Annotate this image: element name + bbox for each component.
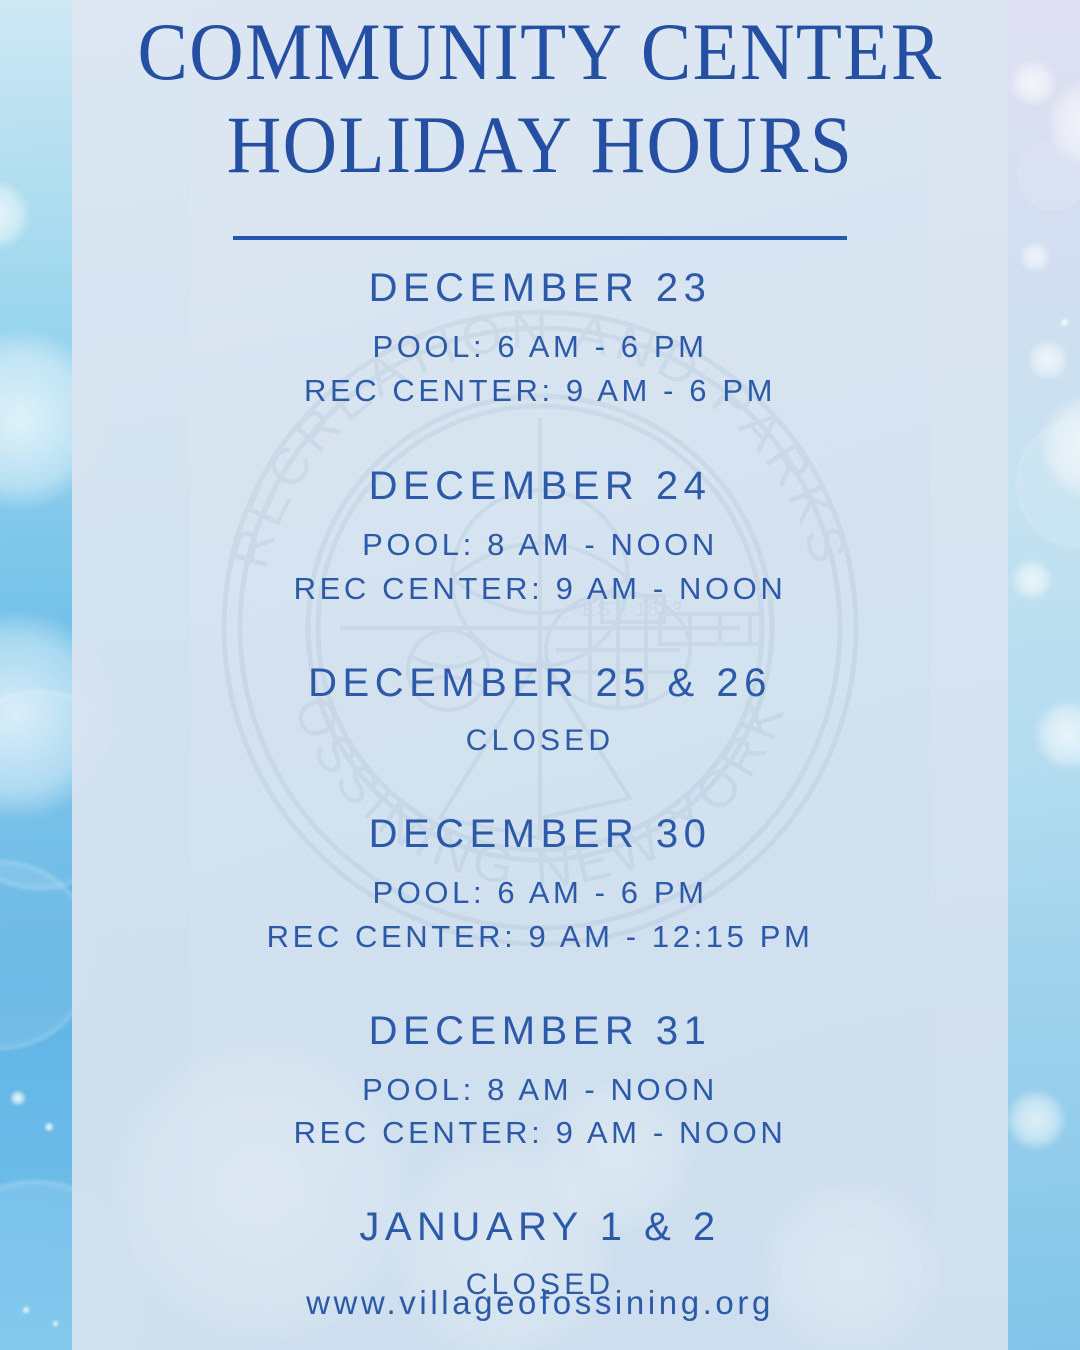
- title-line-1: COMMUNITY CENTER: [43, 6, 1037, 99]
- schedule-entry-line: POOL: 8 AM - NOON: [0, 1068, 1080, 1112]
- schedule-entry-date: DECEMBER 30: [0, 814, 1080, 854]
- schedule-entry-line: POOL: 6 AM - 6 PM: [0, 871, 1080, 915]
- schedule-entry-hours: POOL: 6 AM - 6 PM REC CENTER: 9 AM - 12:…: [0, 871, 1080, 958]
- spacer: [0, 762, 1080, 814]
- schedule-entry-line: REC CENTER: 9 AM - 6 PM: [0, 369, 1080, 413]
- schedule-entry-hours: POOL: 8 AM - NOON REC CENTER: 9 AM - NOO…: [0, 523, 1080, 610]
- schedule-entry-line: POOL: 8 AM - NOON: [0, 523, 1080, 567]
- poster-content: COMMUNITY CENTER HOLIDAY HOURS DECEMBER …: [0, 0, 1080, 1350]
- spacer: [0, 611, 1080, 663]
- schedule-entry: DECEMBER 24 POOL: 8 AM - NOON REC CENTER…: [0, 466, 1080, 610]
- schedule-entry-date: DECEMBER 31: [0, 1011, 1080, 1051]
- schedule-entry-hours: POOL: 6 AM - 6 PM REC CENTER: 9 AM - 6 P…: [0, 325, 1080, 412]
- title-line-2: HOLIDAY HOURS: [43, 99, 1037, 192]
- holiday-hours-poster: RECREATION AND PARKS OSSINING NEW YORK: [0, 0, 1080, 1350]
- title-divider: [233, 236, 847, 240]
- schedule-entry: DECEMBER 31 POOL: 8 AM - NOON REC CENTER…: [0, 1011, 1080, 1155]
- schedule-entry: DECEMBER 23 POOL: 6 AM - 6 PM REC CENTER…: [0, 268, 1080, 412]
- schedule-entry-line: POOL: 6 AM - 6 PM: [0, 325, 1080, 369]
- spacer: [0, 412, 1080, 466]
- schedule-entry: DECEMBER 25 & 26 CLOSED: [0, 663, 1080, 762]
- schedule-entry-date: DECEMBER 24: [0, 466, 1080, 506]
- schedule-entry-hours: CLOSED: [0, 720, 1080, 762]
- poster-title: COMMUNITY CENTER HOLIDAY HOURS: [0, 6, 1080, 191]
- schedule-entry-status: CLOSED: [0, 720, 1080, 762]
- schedule-entry-date: DECEMBER 23: [0, 268, 1080, 308]
- schedule-entry: DECEMBER 30 POOL: 6 AM - 6 PM REC CENTER…: [0, 814, 1080, 958]
- spacer: [0, 959, 1080, 1011]
- schedule-entry-date: DECEMBER 25 & 26: [0, 663, 1080, 703]
- schedule-list: DECEMBER 23 POOL: 6 AM - 6 PM REC CENTER…: [0, 268, 1080, 1306]
- schedule-entry-line: REC CENTER: 9 AM - 12:15 PM: [0, 915, 1080, 959]
- schedule-entry-hours: POOL: 8 AM - NOON REC CENTER: 9 AM - NOO…: [0, 1068, 1080, 1155]
- schedule-entry-line: REC CENTER: 9 AM - NOON: [0, 1111, 1080, 1155]
- schedule-entry-date: JANUARY 1 & 2: [0, 1207, 1080, 1247]
- schedule-entry-line: REC CENTER: 9 AM - NOON: [0, 567, 1080, 611]
- spacer: [0, 1155, 1080, 1207]
- website-url[interactable]: www.villageofossining.org: [0, 1284, 1080, 1322]
